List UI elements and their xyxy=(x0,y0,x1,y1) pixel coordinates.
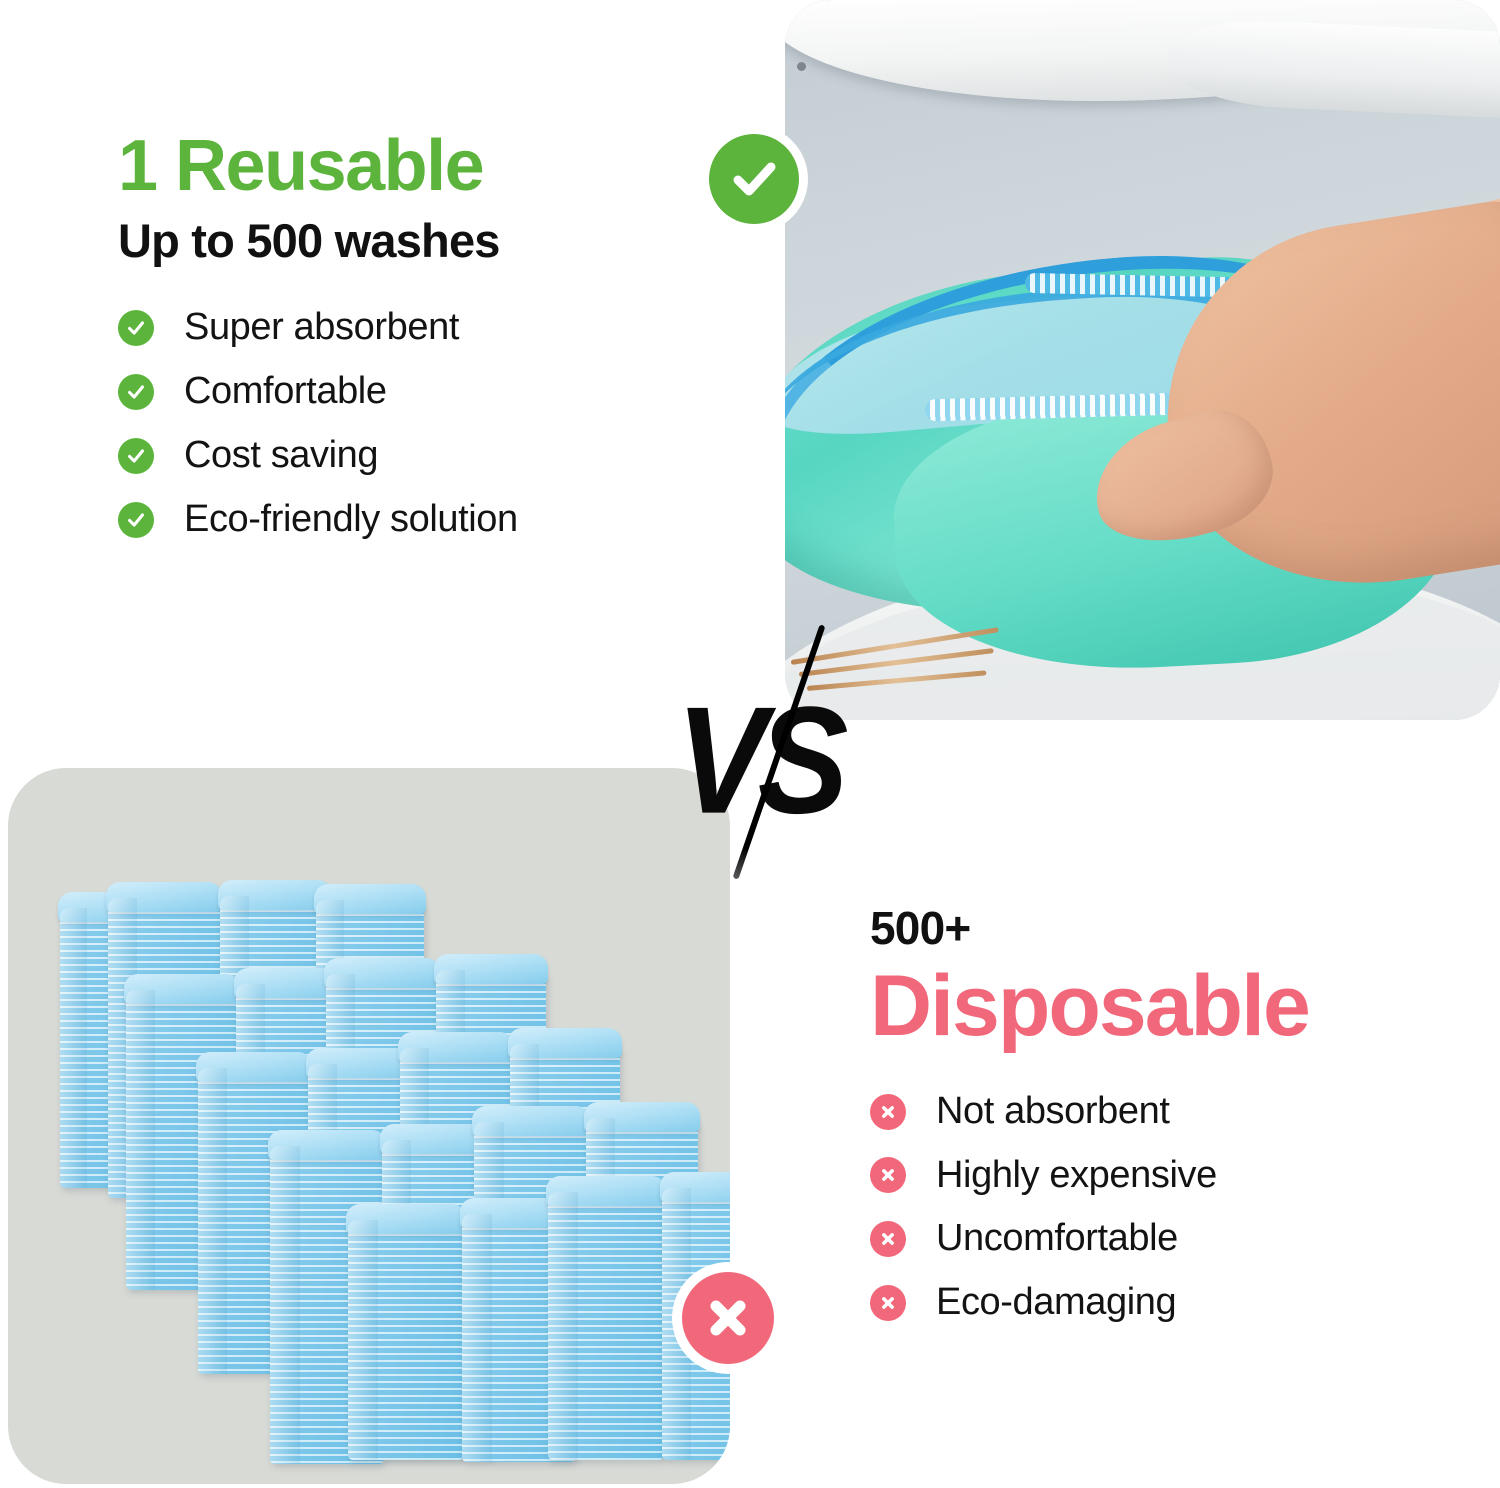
list-item: Eco-damaging xyxy=(870,1282,1470,1324)
lid-hinge-dot xyxy=(797,62,806,71)
x-circle-icon xyxy=(870,1285,906,1321)
list-item: Eco-friendly solution xyxy=(118,499,698,541)
feature-label: Eco-damaging xyxy=(936,1282,1176,1324)
disposable-pad-stack xyxy=(348,1220,464,1460)
disposable-product-photo xyxy=(8,768,730,1484)
x-circle-icon xyxy=(870,1094,906,1130)
feature-label: Uncomfortable xyxy=(936,1218,1178,1260)
list-item: Cost saving xyxy=(118,435,698,477)
reusable-product-photo xyxy=(785,0,1500,720)
list-item: Uncomfortable xyxy=(870,1218,1470,1260)
reusable-section: 1 Reusable Up to 500 washes Super absorb… xyxy=(118,130,698,563)
disposable-section: 500+ Disposable Not absorbent Highly exp… xyxy=(870,905,1470,1346)
x-circle-icon xyxy=(870,1157,906,1193)
check-circle-icon xyxy=(709,134,799,224)
check-circle-icon xyxy=(118,438,154,474)
feature-label: Highly expensive xyxy=(936,1155,1217,1197)
list-item: Super absorbent xyxy=(118,307,698,349)
list-item: Highly expensive xyxy=(870,1155,1470,1197)
x-circle-icon xyxy=(870,1221,906,1257)
disposable-heading: Disposable xyxy=(870,963,1470,1051)
feature-label: Eco-friendly solution xyxy=(184,499,518,541)
reusable-heading: 1 Reusable xyxy=(118,130,698,202)
feature-label: Cost saving xyxy=(184,435,378,477)
disposable-rejected-badge xyxy=(672,1262,784,1374)
reusable-approved-badge xyxy=(700,125,808,233)
disposable-pad-stack xyxy=(548,1192,664,1460)
versus-mark: VS xyxy=(676,630,896,880)
reusable-feature-list: Super absorbent Comfortable Cost saving xyxy=(118,307,698,540)
list-item: Comfortable xyxy=(118,371,698,413)
feature-label: Comfortable xyxy=(184,371,387,413)
check-circle-icon xyxy=(118,502,154,538)
feature-label: Not absorbent xyxy=(936,1091,1170,1133)
disposable-count: 500+ xyxy=(870,905,1470,951)
check-circle-icon xyxy=(118,374,154,410)
feature-label: Super absorbent xyxy=(184,307,459,349)
check-circle-icon xyxy=(118,310,154,346)
list-item: Not absorbent xyxy=(870,1091,1470,1133)
disposable-feature-list: Not absorbent Highly expensive Uncomfort… xyxy=(870,1091,1470,1324)
x-circle-icon xyxy=(682,1272,774,1364)
reusable-subheading: Up to 500 washes xyxy=(118,216,698,265)
